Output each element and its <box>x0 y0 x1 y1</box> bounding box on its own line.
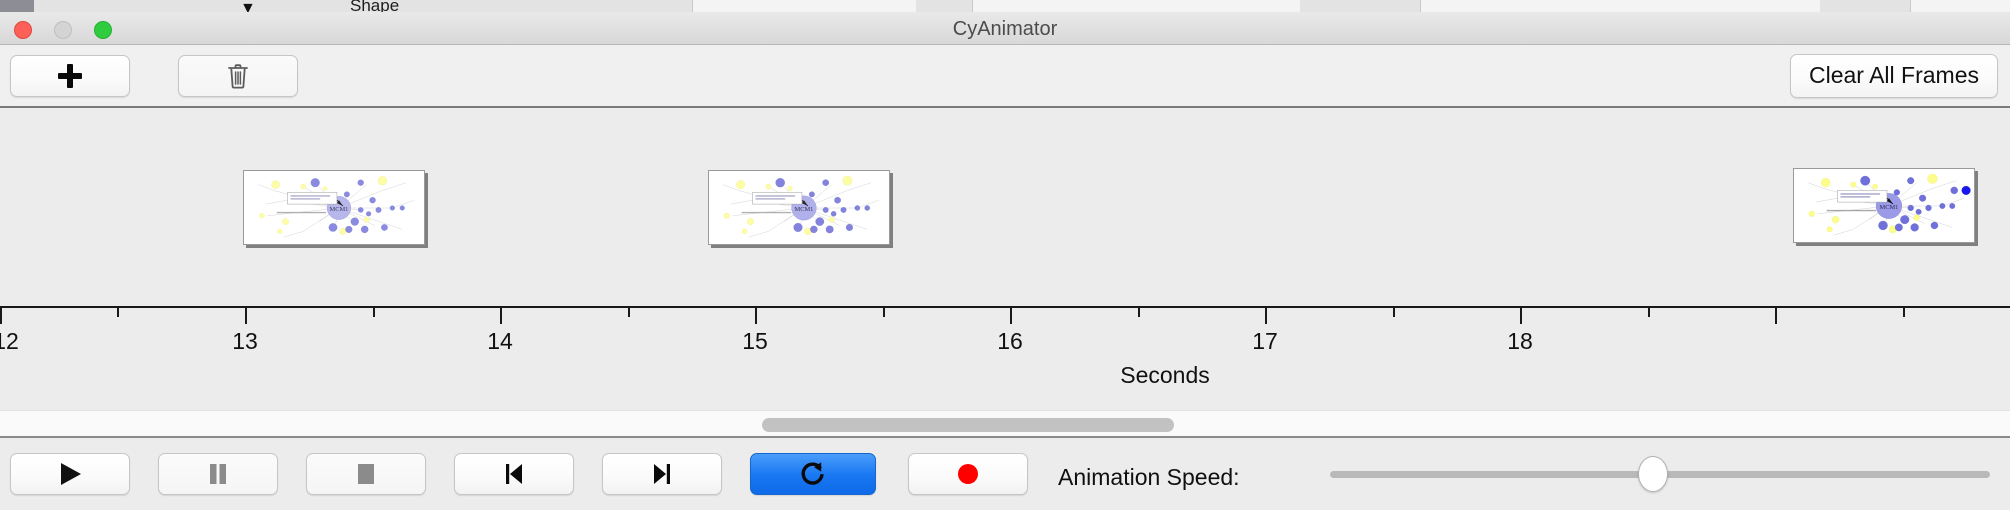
bg-segment <box>0 0 35 12</box>
axis-tick-label: 18 <box>1507 328 1533 355</box>
axis-tick <box>1010 308 1012 324</box>
network-thumbnail: MCM1 <box>244 171 424 244</box>
axis-tick <box>117 308 119 317</box>
axis-tick <box>373 308 375 317</box>
bg-segment <box>1820 0 1911 12</box>
playback-toolbar: Animation Speed: <box>0 440 2010 510</box>
bg-segment <box>34 0 95 12</box>
plus-icon <box>57 63 83 89</box>
trash-icon <box>226 62 250 90</box>
timeline-panel[interactable]: MCM1 <box>0 110 2010 410</box>
play-button[interactable] <box>10 453 130 495</box>
skip-forward-icon <box>649 460 675 488</box>
loop-button[interactable] <box>750 453 876 495</box>
toolbar: Clear All Frames <box>0 45 2010 108</box>
stop-button[interactable] <box>306 453 426 495</box>
axis-tick-label: 16 <box>997 328 1023 355</box>
timeline-frame[interactable]: MCM1 <box>243 170 425 245</box>
axis-tick-label: 17 <box>1252 328 1278 355</box>
network-thumbnail: MCM1 <box>709 171 889 244</box>
axis-tick <box>1520 308 1522 324</box>
add-frame-button[interactable] <box>10 55 130 97</box>
timeline-frame[interactable]: MCM1 <box>1793 168 1975 243</box>
bg-segment <box>94 0 191 12</box>
bg-segment <box>1300 0 1421 12</box>
record-button[interactable] <box>908 453 1028 495</box>
scrollbar-thumb[interactable] <box>762 418 1174 432</box>
slider-thumb[interactable] <box>1638 456 1668 492</box>
svg-text:MCM1: MCM1 <box>1880 204 1899 211</box>
axis-tick <box>1265 308 1267 324</box>
play-icon <box>57 460 83 488</box>
highlight-node <box>1962 186 1971 195</box>
bg-segment <box>492 0 693 12</box>
axis-tick <box>1903 308 1905 317</box>
timeline-scrollbar[interactable] <box>0 410 2010 438</box>
axis-tick <box>1393 308 1395 317</box>
axis-tick <box>755 308 757 324</box>
cyanimator-window: ▼ Shape CyAnimator Clear All Frames <box>0 0 2010 510</box>
axis-tick-label: 15 <box>742 328 768 355</box>
delete-frame-button[interactable] <box>178 55 298 97</box>
axis-tick-label: 14 <box>487 328 513 355</box>
axis-tick <box>1138 308 1140 317</box>
animation-speed-slider[interactable] <box>1330 467 1990 481</box>
previous-frame-button[interactable] <box>454 453 574 495</box>
axis-title: Seconds <box>0 362 2010 389</box>
svg-text:MCM1: MCM1 <box>795 206 814 213</box>
axis-tick <box>1775 308 1777 324</box>
next-frame-button[interactable] <box>602 453 722 495</box>
loop-icon <box>798 459 828 489</box>
axis-tick <box>0 308 2 324</box>
clear-all-frames-button[interactable]: Clear All Frames <box>1790 54 1998 98</box>
axis-tick <box>628 308 630 317</box>
window-title: CyAnimator <box>0 18 2010 41</box>
bg-chevron-icon: ▼ <box>240 0 256 12</box>
axis-tick <box>883 308 885 317</box>
axis-title-text: Seconds <box>1120 362 1210 388</box>
bg-segment <box>916 0 973 12</box>
animation-speed-label: Animation Speed: <box>1058 464 1240 491</box>
titlebar: CyAnimator <box>0 12 2010 45</box>
axis-tick-label: 13 <box>232 328 258 355</box>
stop-icon <box>353 460 379 488</box>
skip-back-icon <box>501 460 527 488</box>
network-thumbnail: MCM1 <box>1794 169 1974 242</box>
clear-all-frames-label: Clear All Frames <box>1809 62 1979 89</box>
pause-icon <box>205 460 231 488</box>
axis-tick-label: 12 <box>0 328 19 355</box>
pause-button[interactable] <box>158 453 278 495</box>
bg-shape-label: Shape <box>350 0 399 12</box>
axis-tick <box>500 308 502 324</box>
axis-tick <box>1648 308 1650 317</box>
background-app-chrome: ▼ Shape <box>0 0 2010 12</box>
record-icon <box>954 460 982 488</box>
timeline-frame[interactable]: MCM1 <box>708 170 890 245</box>
timeline-axis-line <box>0 306 2010 308</box>
axis-tick <box>245 308 247 324</box>
svg-text:MCM1: MCM1 <box>330 206 349 213</box>
bg-segment <box>412 0 493 12</box>
